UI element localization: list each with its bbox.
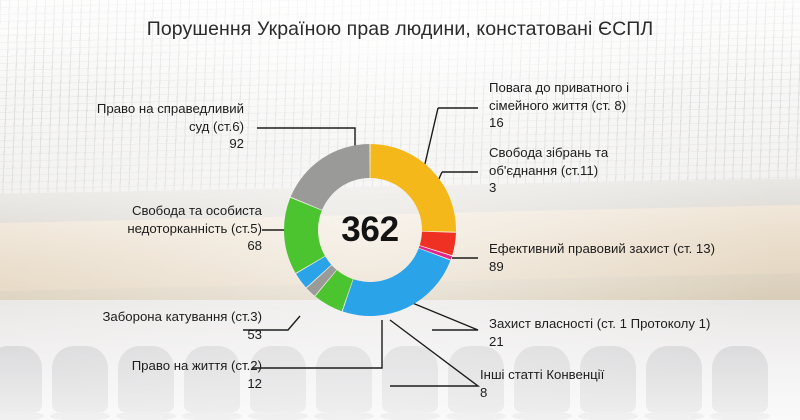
label-liberty: Свобода та особиста недоторканність (ст.… [12,202,262,255]
value-fair-trial: 92 [14,135,244,153]
value-remedy: 89 [489,258,794,276]
label-torture-line1: Заборона катування (ст.3) [102,309,262,324]
label-life: Право на життя (ст.2) 12 [12,357,262,392]
label-assembly: Свобода зібрань та об'єднання (ст.11) 3 [489,144,789,197]
label-fair-trial: Право на справедливий суд (ст.6) 92 [14,100,244,153]
donut-chart: 362 [281,141,459,319]
label-remedy: Ефективний правовий захист (ст. 13) 89 [489,240,794,275]
label-property: Захист власності (ст. 1 Протоколу 1) 21 [489,315,794,350]
label-remedy-line1: Ефективний правовий захист (ст. 13) [489,241,715,256]
label-torture: Заборона катування (ст.3) 53 [12,308,262,343]
label-privacy: Повага до приватного і сімейного життя (… [489,79,789,132]
value-liberty: 68 [12,237,262,255]
label-other-line1: Інші статті Конвенції [480,367,604,382]
label-liberty-line2: недоторканність (ст.5) [127,221,262,236]
value-property: 21 [489,333,794,351]
label-fair-trial-line1: Право на справедливий [97,101,244,116]
value-privacy: 16 [489,114,789,132]
value-torture: 53 [12,326,262,344]
label-property-line1: Захист власності (ст. 1 Протоколу 1) [489,316,710,331]
label-fair-trial-line2: суд (ст.6) [189,119,244,134]
label-privacy-line1: Повага до приватного і [489,80,629,95]
value-life: 12 [12,375,262,393]
label-liberty-line1: Свобода та особиста [132,203,262,218]
label-privacy-line2: сімейного життя (ст. 8) [489,98,626,113]
value-other: 8 [480,384,790,402]
label-other: Інші статті Конвенції 8 [480,366,790,401]
label-life-line1: Право на життя (ст.2) [132,358,262,373]
donut-center-total: 362 [281,141,459,319]
label-assembly-line1: Свобода зібрань та [489,145,608,160]
value-assembly: 3 [489,179,789,197]
label-assembly-line2: об'єднання (ст.11) [489,163,598,178]
